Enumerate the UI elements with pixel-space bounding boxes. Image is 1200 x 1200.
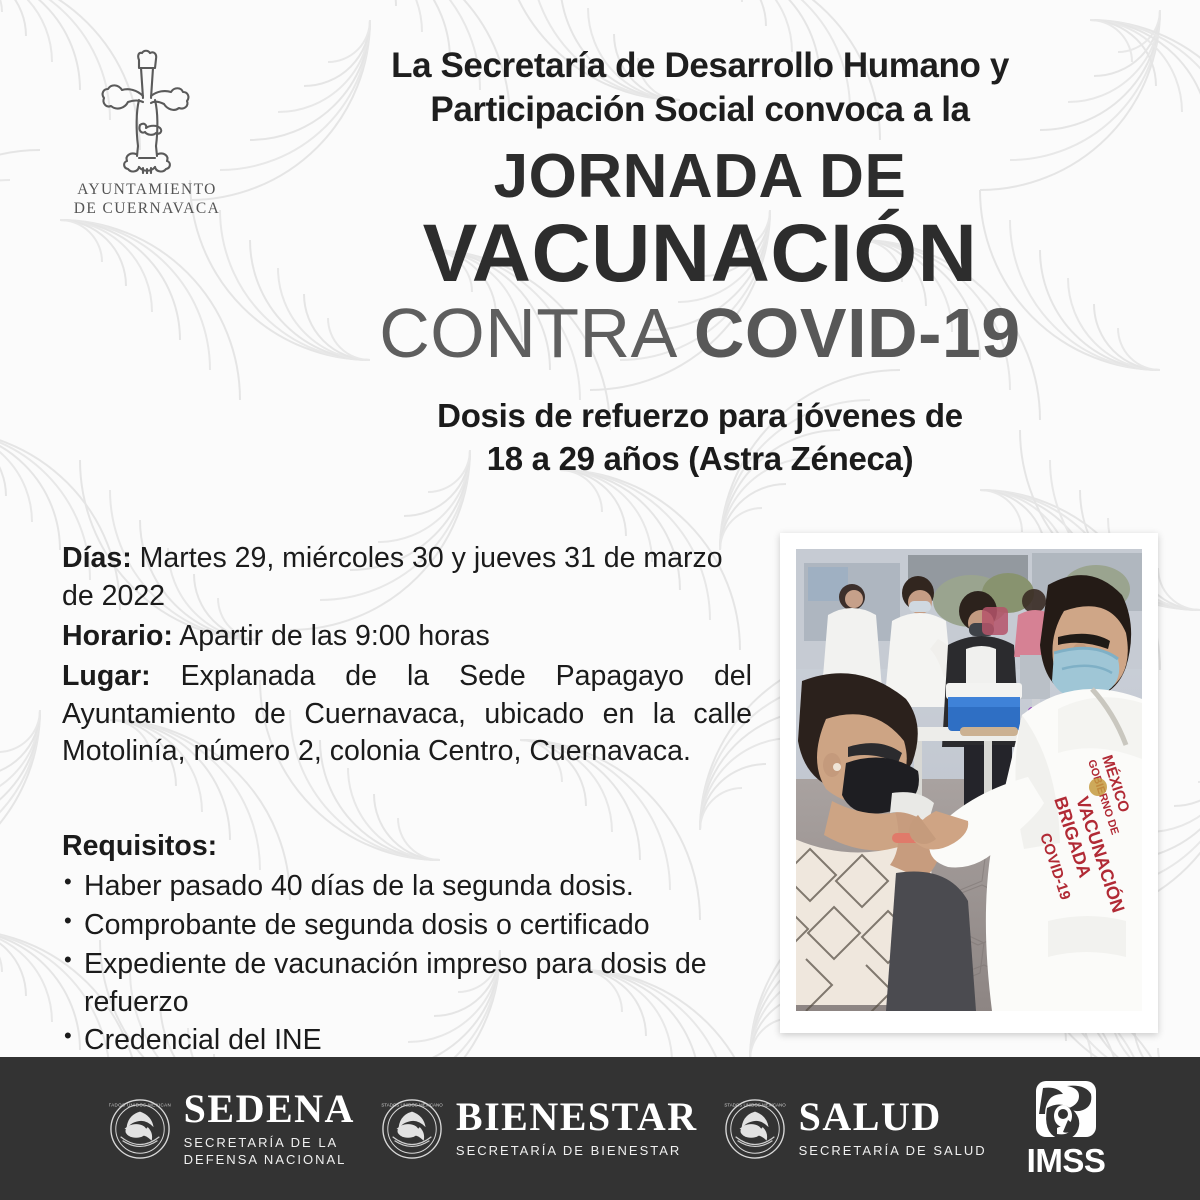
svg-text:ESTADOS UNIDOS MEXICANOS: ESTADOS UNIDOS MEXICANOS [724,1102,786,1107]
sedena-name: SEDENA [184,1089,355,1129]
footer-logos: ESTADOS UNIDOS MEXICANOS SEDENA SECRETAR… [95,1080,1106,1177]
headline-block: La Secretaría de Desarrollo Humano y Par… [230,44,1170,480]
subheadline-line-1: Dosis de refuerzo para jóvenes de [230,395,1170,438]
salud-subtitle: SECRETARÍA DE SALUD [799,1143,987,1159]
requirements-list: Haber pasado 40 días de la segunda dosis… [62,868,762,1060]
sedena-subtitle-line-2: DEFENSA NACIONAL [184,1152,355,1168]
requirements-block: Requisitos: Haber pasado 40 días de la s… [62,828,762,1061]
mexican-coat-of-arms-seal-icon: ESTADOS UNIDOS MEXICANOS [381,1098,443,1160]
subheadline: Dosis de refuerzo para jóvenes de 18 a 2… [230,395,1170,481]
title-contra: CONTRA [379,294,694,372]
cuernavaca-logo: AYUNTAMIENTO DE CUERNAVACA [52,46,242,219]
kicker-line-1: La Secretaría de Desarrollo Humano y [230,44,1170,88]
poster-root: AYUNTAMIENTO DE CUERNAVACA La Secretaría… [0,0,1200,1200]
salud-text: SALUD SECRETARÍA DE SALUD [799,1097,987,1159]
title-line-covid: CONTRA COVID-19 [230,297,1170,371]
bienestar-text: BIENESTAR SECRETARÍA DE BIENESTAR [456,1097,698,1159]
detail-lugar-value: Explanada de la Sede Papagayo del Ayunta… [62,660,752,768]
detail-dias: Días: Martes 29, miércoles 30 y jueves 3… [62,540,752,616]
imss-eagle-mother-icon [1033,1080,1099,1142]
list-item: Credencial del INE [62,1022,762,1060]
title-covid19: COVID-19 [694,294,1021,372]
vaccination-photo-frame: GOBIERNO DE MÉXICO BRIGADA VACUNACIÓN CO… [780,533,1158,1033]
detail-horario-label: Horario: [62,620,173,652]
salud-logo: ESTADOS UNIDOS MEXICANOS SALUD SECRETARÍ… [724,1097,987,1159]
imss-logo: IMSS [1027,1080,1106,1177]
requirements-title: Requisitos: [62,828,762,866]
event-details: Días: Martes 29, miércoles 30 y jueves 3… [62,540,752,773]
svg-text:ESTADOS UNIDOS MEXICANOS: ESTADOS UNIDOS MEXICANOS [109,1102,171,1107]
detail-horario-value: Apartir de las 9:00 horas [173,620,490,652]
kicker-line-2: Participación Social convoca a la [230,88,1170,132]
svg-text:ESTADOS UNIDOS MEXICANOS: ESTADOS UNIDOS MEXICANOS [381,1102,443,1107]
cuauhnahuac-tree-glyph [87,46,207,174]
bienestar-logo: ESTADOS UNIDOS MEXICANOS BIENESTAR SECRE… [381,1097,698,1159]
detail-lugar-label: Lugar: [62,660,151,692]
detail-horario: Horario: Apartir de las 9:00 horas [62,618,752,656]
vaccination-photo: GOBIERNO DE MÉXICO BRIGADA VACUNACIÓN CO… [796,549,1142,1011]
list-item: Expediente de vacunación impreso para do… [62,946,762,1022]
footer-bar: ESTADOS UNIDOS MEXICANOS SEDENA SECRETAR… [0,1057,1200,1200]
sedena-text: SEDENA SECRETARÍA DE LA DEFENSA NACIONAL [184,1089,355,1168]
kicker-text: La Secretaría de Desarrollo Humano y Par… [230,44,1170,132]
list-item: Comprobante de segunda dosis o certifica… [62,907,762,945]
salud-name: SALUD [799,1097,987,1137]
logo-caption-line1: AYUNTAMIENTO [52,180,242,199]
detail-dias-label: Días: [62,542,132,574]
sedena-subtitle-line-1: SECRETARÍA DE LA [184,1135,355,1151]
mexican-coat-of-arms-seal-icon: ESTADOS UNIDOS MEXICANOS [109,1098,171,1160]
sedena-logo: ESTADOS UNIDOS MEXICANOS SEDENA SECRETAR… [109,1089,355,1168]
sedena-subtitle: SECRETARÍA DE LA DEFENSA NACIONAL [184,1135,355,1168]
subheadline-line-2: 18 a 29 años (Astra Zéneca) [230,438,1170,481]
bienestar-subtitle: SECRETARÍA DE BIENESTAR [456,1143,698,1159]
mexican-coat-of-arms-seal-icon: ESTADOS UNIDOS MEXICANOS [724,1098,786,1160]
detail-lugar: Lugar: Explanada de la Sede Papagayo del… [62,658,752,772]
list-item: Haber pasado 40 días de la segunda dosis… [62,868,762,906]
bienestar-name: BIENESTAR [456,1097,698,1137]
title-line-jornada: JORNADA DE [230,146,1170,208]
logo-caption-line2: DE CUERNAVACA [52,199,242,218]
imss-wordmark: IMSS [1027,1144,1106,1177]
title-line-vacunacion: VACUNACIÓN [230,212,1170,296]
detail-dias-value: Martes 29, miércoles 30 y jueves 31 de m… [62,542,723,612]
logo-caption: AYUNTAMIENTO DE CUERNAVACA [52,180,242,219]
